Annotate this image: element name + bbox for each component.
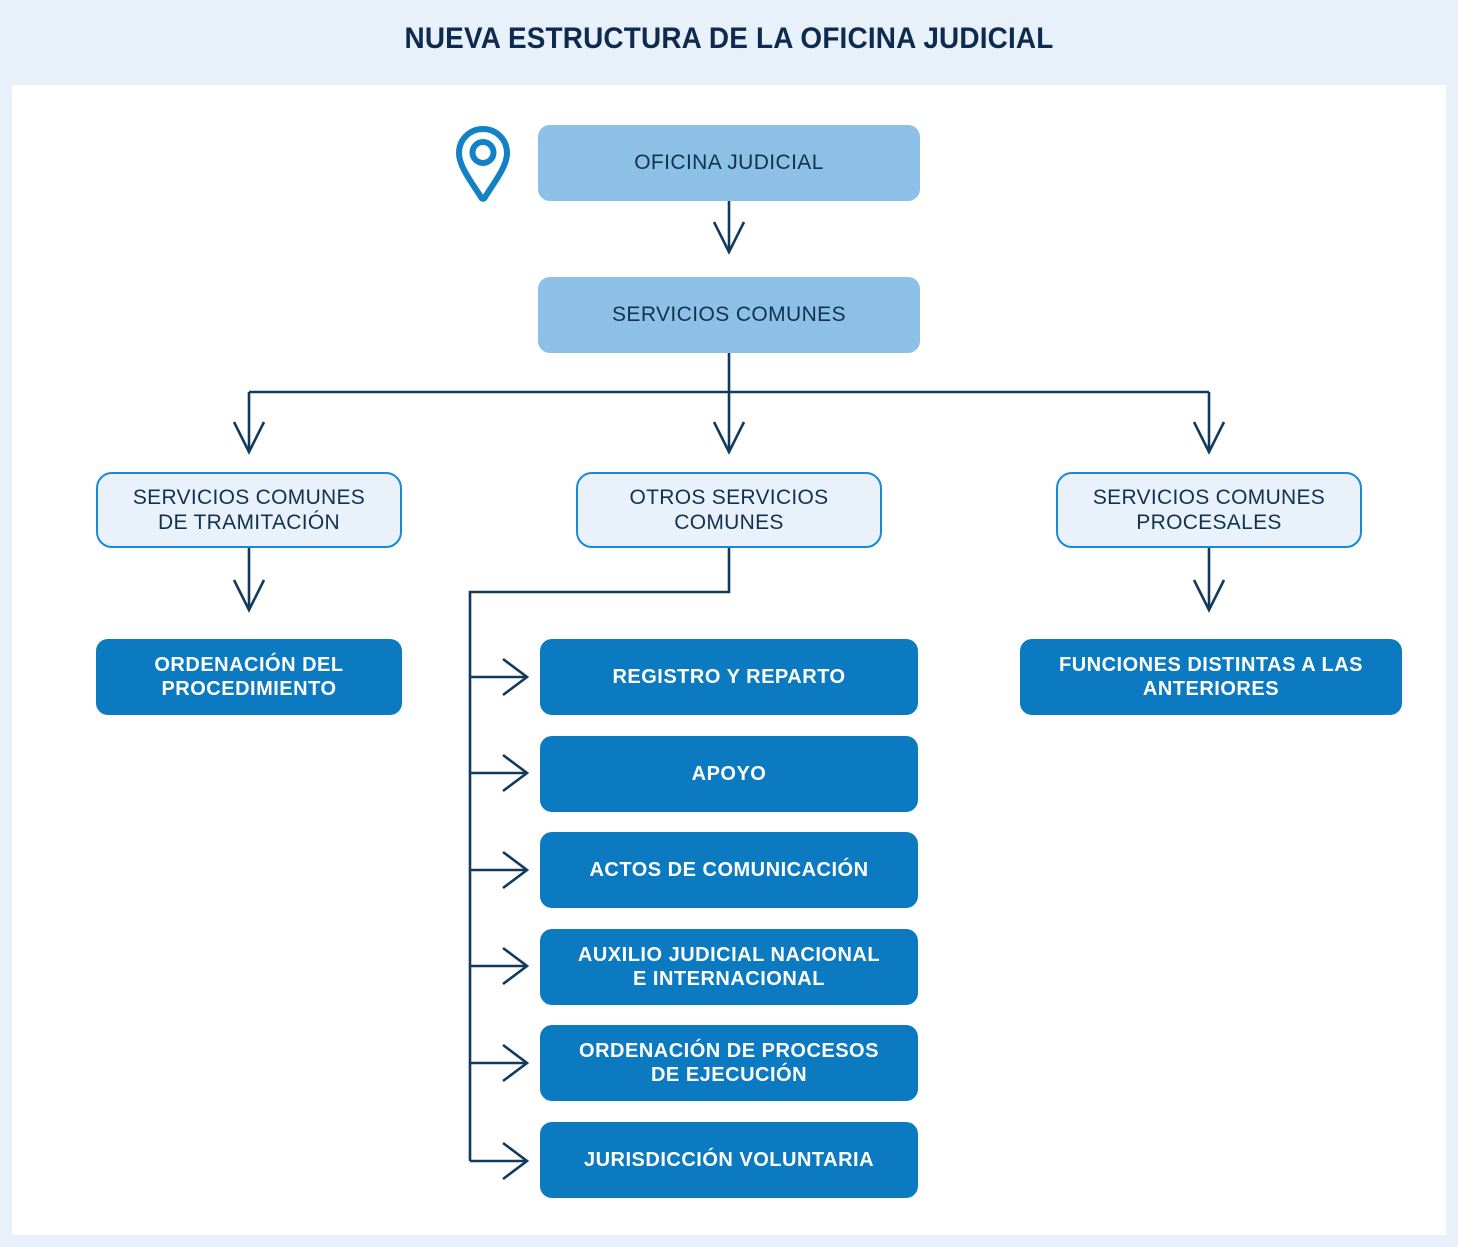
node-label: REGISTRO Y REPARTO <box>612 665 845 689</box>
node-funciones-distintas[interactable]: FUNCIONES DISTINTAS A LAS ANTERIORES <box>1020 639 1402 715</box>
node-label-line-2: COMUNES <box>674 511 783 534</box>
node-label-line-1: OTROS SERVICIOS <box>630 486 829 509</box>
node-otros-servicios-comunes[interactable]: OTROS SERVICIOS COMUNES <box>576 472 882 548</box>
node-label-line-1: SERVICIOS COMUNES <box>133 486 365 509</box>
node-auxilio-judicial[interactable]: AUXILIO JUDICIAL NACIONAL E INTERNACIONA… <box>540 929 918 1005</box>
node-label-wrap: SERVICIOS COMUNES PROCESALES <box>1093 485 1325 535</box>
node-oficina-judicial[interactable]: OFICINA JUDICIAL <box>538 125 920 201</box>
node-actos-de-comunicacion[interactable]: ACTOS DE COMUNICACIÓN <box>540 832 918 908</box>
page-title: NUEVA ESTRUCTURA DE LA OFICINA JUDICIAL <box>51 22 1407 56</box>
location-pin-icon <box>452 124 514 204</box>
node-label-line-1: ORDENACIÓN DE PROCESOS <box>579 1040 879 1062</box>
node-servicios-comunes-tramitacion[interactable]: SERVICIOS COMUNES DE TRAMITACIÓN <box>96 472 402 548</box>
node-label-wrap: ORDENACIÓN DEL PROCEDIMIENTO <box>154 653 343 701</box>
node-label-line-2: ANTERIORES <box>1143 678 1279 700</box>
node-servicios-comunes[interactable]: SERVICIOS COMUNES <box>538 277 920 353</box>
node-label-line-1: SERVICIOS COMUNES <box>1093 486 1325 509</box>
diagram-root: NUEVA ESTRUCTURA DE LA OFICINA JUDICIAL <box>0 0 1458 1247</box>
node-label-line-2: PROCESALES <box>1136 511 1281 534</box>
node-registro-y-reparto[interactable]: REGISTRO Y REPARTO <box>540 639 918 715</box>
node-label-line-1: AUXILIO JUDICIAL NACIONAL <box>578 944 880 966</box>
node-label: JURISDICCIÓN VOLUNTARIA <box>584 1148 874 1172</box>
node-label: OFICINA JUDICIAL <box>634 150 824 175</box>
node-label: SERVICIOS COMUNES <box>612 302 846 327</box>
node-label-line-1: FUNCIONES DISTINTAS A LAS <box>1059 654 1363 676</box>
node-label-wrap: ORDENACIÓN DE PROCESOS DE EJECUCIÓN <box>579 1039 879 1087</box>
node-label-line-2: E INTERNACIONAL <box>633 968 825 990</box>
node-label-line-2: DE TRAMITACIÓN <box>158 511 340 534</box>
node-jurisdiccion-voluntaria[interactable]: JURISDICCIÓN VOLUNTARIA <box>540 1122 918 1198</box>
node-ordenacion-del-procedimiento[interactable]: ORDENACIÓN DEL PROCEDIMIENTO <box>96 639 402 715</box>
node-ordenacion-procesos-ejecucion[interactable]: ORDENACIÓN DE PROCESOS DE EJECUCIÓN <box>540 1025 918 1101</box>
node-label-wrap: OTROS SERVICIOS COMUNES <box>630 485 829 535</box>
node-label-wrap: SERVICIOS COMUNES DE TRAMITACIÓN <box>133 485 365 535</box>
node-label-line-2: PROCEDIMIENTO <box>161 678 336 700</box>
node-label-wrap: FUNCIONES DISTINTAS A LAS ANTERIORES <box>1059 653 1363 701</box>
node-label: APOYO <box>692 762 767 786</box>
node-label-line-1: ORDENACIÓN DEL <box>154 654 343 676</box>
node-servicios-comunes-procesales[interactable]: SERVICIOS COMUNES PROCESALES <box>1056 472 1362 548</box>
node-label-wrap: AUXILIO JUDICIAL NACIONAL E INTERNACIONA… <box>578 943 880 991</box>
node-label-line-2: DE EJECUCIÓN <box>651 1064 807 1086</box>
node-apoyo[interactable]: APOYO <box>540 736 918 812</box>
node-label: ACTOS DE COMUNICACIÓN <box>589 858 868 882</box>
